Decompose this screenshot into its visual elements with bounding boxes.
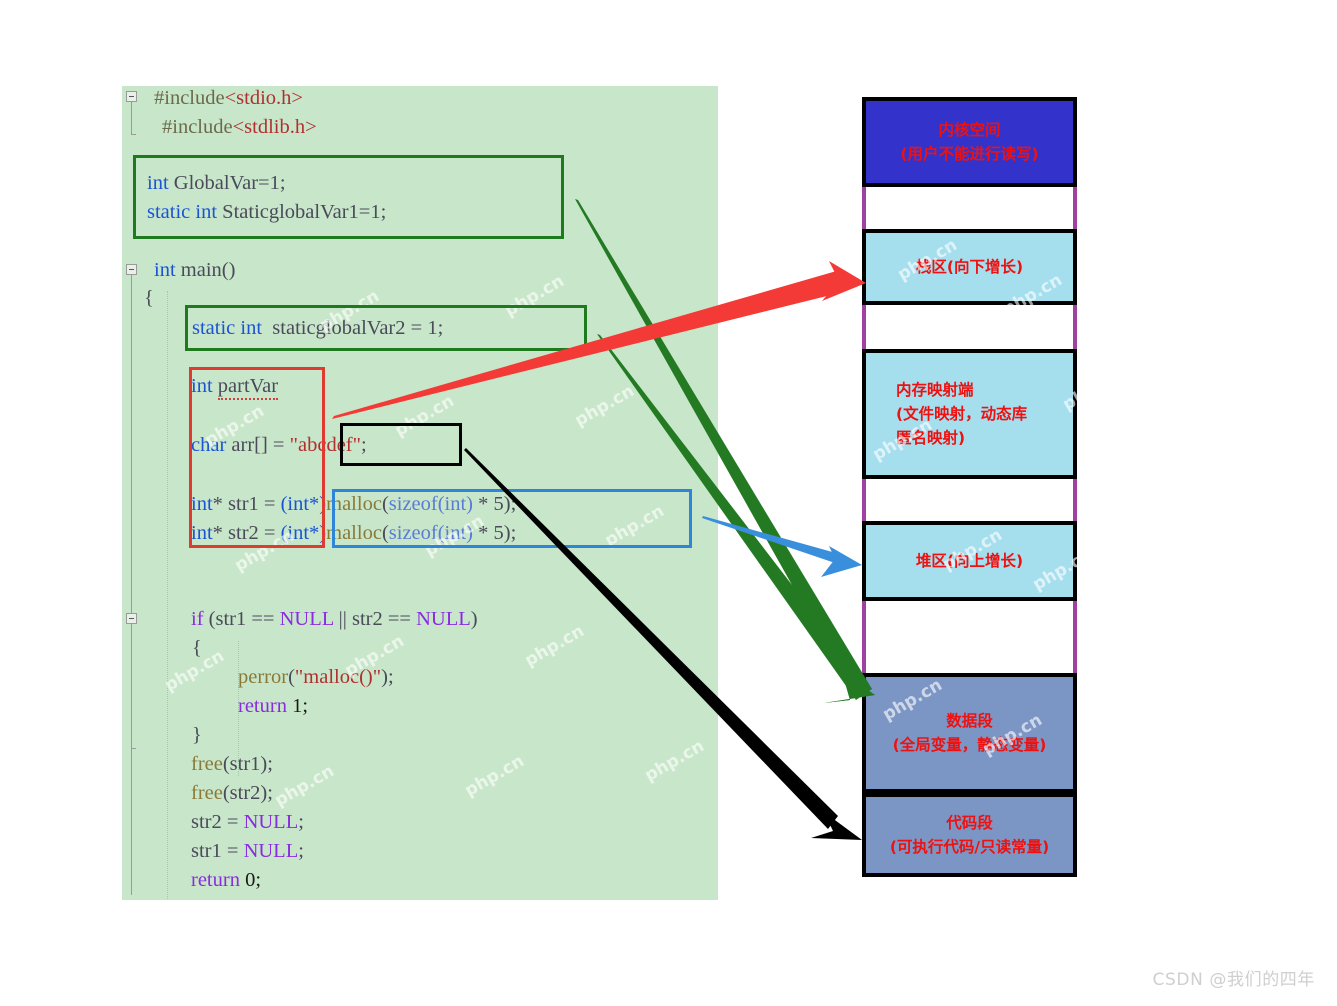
memory-mapping-line3: 匿名映射) <box>896 426 965 450</box>
connector-right-2 <box>1073 305 1077 351</box>
csdn-watermark: CSDN @我们的四年 <box>1153 965 1315 990</box>
data-segment-line2: (全局变量，静态变量) <box>893 733 1047 757</box>
memory-layout-diagram: 内核空间 (用户不能进行读写) 栈区(向下增长) 内存映射端 (文件映射，动态库… <box>0 0 1337 1006</box>
memory-mapping-line2: (文件映射，动态库 <box>896 402 1027 426</box>
heap-segment-label: 堆区(向上增长) <box>916 549 1023 573</box>
kernel-space-block: 内核空间 (用户不能进行读写) <box>862 97 1077 187</box>
heap-segment-block: 堆区(向上增长) <box>862 521 1077 601</box>
watermark-tile: php.cn <box>744 585 810 635</box>
connector-left-1 <box>862 187 866 231</box>
connector-right-1 <box>1073 187 1077 231</box>
code-segment-line2: (可执行代码/只读常量) <box>890 835 1049 859</box>
watermark-tile: php.cn <box>759 745 825 795</box>
kernel-space-line1: 内核空间 <box>938 118 1000 142</box>
code-segment-block: 代码段 (可执行代码/只读常量) <box>862 793 1077 877</box>
connector-left-4 <box>862 601 866 675</box>
connector-left-2 <box>862 305 866 351</box>
connector-right-4 <box>1073 601 1077 675</box>
data-segment-block: 数据段 (全局变量，静态变量) <box>862 673 1077 793</box>
memory-mapping-block: 内存映射端 (文件映射，动态库 匿名映射) <box>862 349 1077 479</box>
data-segment-line1: 数据段 <box>946 709 993 733</box>
stack-segment-label: 栈区(向下增长) <box>916 255 1023 279</box>
kernel-space-line2: (用户不能进行读写) <box>900 142 1038 166</box>
stack-segment-block: 栈区(向下增长) <box>862 229 1077 305</box>
code-segment-line1: 代码段 <box>946 811 993 835</box>
connector-right-3 <box>1073 479 1077 523</box>
memory-mapping-line1: 内存映射端 <box>896 378 974 402</box>
connector-left-3 <box>862 479 866 523</box>
screenshot-root: #include<stdio.h> #include<stdlib.h> int… <box>0 0 1337 1006</box>
